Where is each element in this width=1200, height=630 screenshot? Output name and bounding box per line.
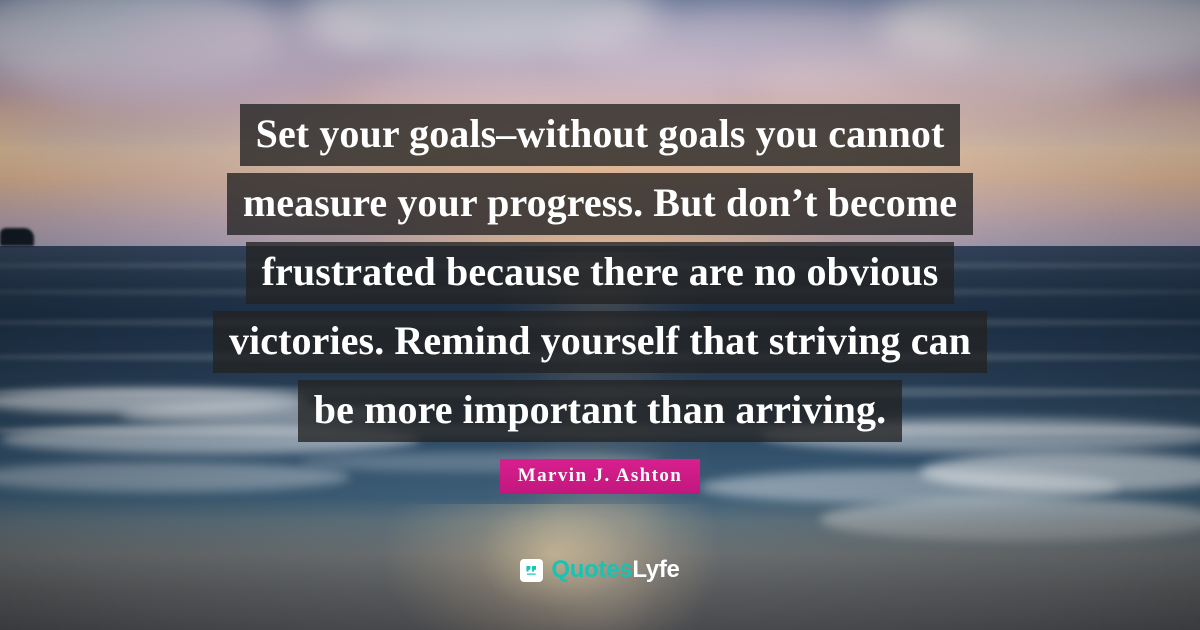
author-badge-wrap: Marvin J. Ashton (0, 459, 1200, 494)
quote-text-block: Set your goals–without goals you cannot … (0, 104, 1200, 449)
author-name: Marvin J. Ashton (500, 459, 700, 494)
quote-line: measure your progress. But don’t become (227, 173, 973, 235)
quote-line: victories. Remind yourself that striving… (213, 311, 987, 373)
brand-name-part2: Lyfe (632, 556, 679, 583)
quote-line: be more important than arriving. (298, 380, 902, 442)
brand-name-part1: Quotes (551, 556, 632, 583)
quote-book-icon (520, 559, 543, 582)
brand-name: QuotesLyfe (551, 556, 679, 584)
quote-image-card: Set your goals–without goals you cannot … (0, 0, 1200, 630)
quote-line: frustrated because there are no obvious (246, 242, 955, 304)
brand-footer: QuotesLyfe (0, 556, 1200, 584)
quote-line: Set your goals–without goals you cannot (240, 104, 961, 166)
